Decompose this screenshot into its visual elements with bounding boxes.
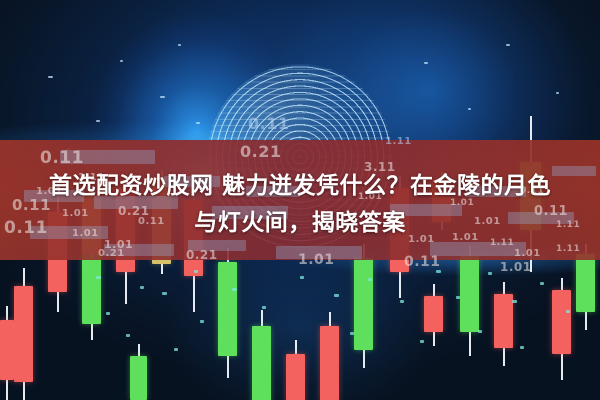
data-speck	[300, 276, 304, 279]
candlestick-body	[218, 262, 237, 356]
ticker-number: 0.21	[186, 248, 218, 262]
candlestick-body	[576, 254, 595, 312]
data-speck	[424, 62, 428, 64]
data-speck	[200, 320, 204, 323]
data-speck	[400, 300, 404, 303]
data-speck	[520, 346, 524, 349]
candlestick-down	[424, 284, 443, 346]
candlestick-body	[424, 296, 443, 332]
data-speck	[96, 120, 100, 122]
data-speck	[140, 286, 144, 289]
data-speck	[196, 122, 200, 124]
data-speck	[232, 288, 237, 291]
data-speck	[556, 92, 559, 94]
headline-line-2: 与灯火间，揭晓答案	[0, 205, 600, 242]
data-speck	[456, 296, 460, 299]
data-speck	[512, 300, 517, 303]
data-speck	[468, 108, 471, 110]
headline-line-1: 首选配资炒股网 魅力迸发凭什么？在金陵的月色	[49, 173, 551, 199]
candlestick-body	[354, 258, 373, 350]
data-speck	[488, 272, 492, 275]
stock-banner-image: 0.110.110.111.011.011.111.011.010.210.11…	[0, 0, 600, 400]
candlestick-down	[14, 268, 33, 400]
page-title: 首选配资炒股网 魅力迸发凭什么？在金陵的月色 与灯火间，揭晓答案	[0, 168, 600, 242]
ticker-number: 0.11	[40, 148, 84, 168]
candlestick-body	[82, 252, 101, 324]
ticker-number: 1.01	[500, 260, 532, 274]
data-speck	[368, 278, 372, 281]
ticker-number: 1.11	[556, 244, 580, 254]
data-speck	[350, 332, 354, 335]
candlestick-body	[460, 256, 479, 332]
data-speck	[436, 270, 441, 273]
ticker-number: 0.21	[240, 142, 281, 161]
data-speck	[262, 306, 266, 309]
candlestick-down	[286, 340, 305, 400]
candlestick-body	[252, 326, 271, 400]
candlestick-body	[494, 294, 513, 348]
data-speck	[96, 276, 101, 279]
candlestick-up	[218, 248, 237, 378]
candlestick-body	[14, 286, 33, 382]
ticker-number: 0.11	[404, 254, 441, 270]
ticker-number: 1.11	[385, 136, 412, 147]
candlestick-body	[320, 326, 339, 400]
candlestick-up	[130, 344, 147, 400]
candlestick-down	[0, 306, 14, 400]
candlestick-down	[494, 282, 513, 366]
data-speck	[478, 330, 482, 333]
candlestick-body	[130, 356, 147, 400]
candlestick-body	[0, 320, 14, 380]
ticker-number: 1.01	[298, 252, 335, 268]
ticker-number: 1.01	[514, 248, 541, 259]
data-speck	[48, 76, 53, 78]
data-speck	[160, 96, 165, 98]
candlestick-up	[252, 310, 271, 400]
data-speck	[120, 60, 123, 62]
data-speck	[162, 292, 167, 295]
candlestick-up	[460, 246, 479, 356]
data-speck	[178, 44, 181, 46]
ticker-number: 0.21	[98, 248, 125, 259]
data-speck	[174, 348, 178, 351]
candlestick-down	[320, 312, 339, 400]
data-speck	[566, 310, 570, 313]
data-speck	[334, 294, 339, 297]
ticker-number: 0.11	[248, 114, 289, 133]
data-speck	[420, 340, 424, 343]
data-speck	[194, 270, 198, 273]
candlestick-body	[552, 290, 571, 354]
candlestick-up	[354, 244, 373, 368]
data-speck	[106, 312, 110, 315]
data-speck	[126, 334, 130, 337]
data-speck	[506, 44, 510, 46]
candlestick-down	[552, 278, 571, 380]
data-speck	[540, 282, 544, 285]
candlestick-body	[286, 354, 305, 400]
